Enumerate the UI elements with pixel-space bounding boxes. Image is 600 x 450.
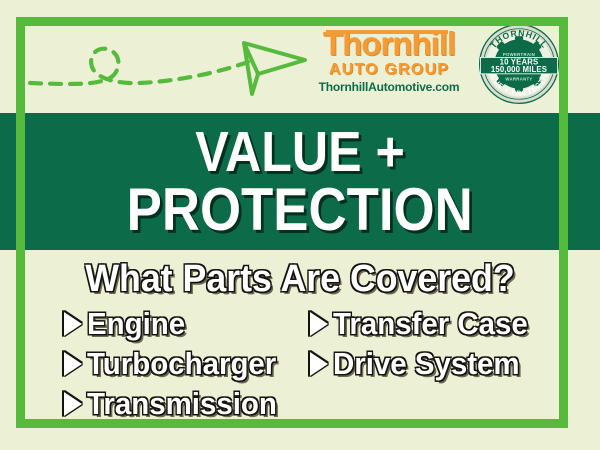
list-item-label: Drive System [333, 347, 520, 381]
headline-line-2: PROTECTION [127, 180, 473, 240]
triangle-bullet-icon [64, 352, 82, 376]
seal-miles-text: 150,000 MILES [491, 65, 547, 74]
triangle-bullet-icon [64, 392, 82, 416]
covered-parts-column-left: Engine Turbocharger Transmission [64, 305, 287, 425]
list-item: Transfer Case [310, 305, 538, 343]
covered-parts-column-right: Transfer Case Drive System [310, 305, 538, 385]
advertisement-banner: Thornhill AUTO GROUP ThornhillAutomotive… [0, 0, 600, 450]
list-item-label: Turbocharger [87, 347, 276, 381]
covered-parts-section: What Parts Are Covered? Engine Turbochar… [0, 250, 600, 450]
list-item: Drive System [310, 345, 538, 383]
dashed-loop-arrow-icon [20, 22, 310, 110]
title-band: VALUE + PROTECTION [0, 113, 600, 250]
list-item-label: Transfer Case [333, 307, 528, 341]
list-item: Transmission [64, 385, 287, 423]
warranty-seal-badge: THORNHILL VALUE + PROTECTION POWERTRAIN … [478, 23, 560, 105]
section-subtitle: What Parts Are Covered? [18, 257, 582, 301]
triangle-bullet-icon [310, 352, 328, 376]
covered-parts-columns: Engine Turbocharger Transmission Transfe… [0, 305, 600, 445]
logo-underline-bar [326, 30, 448, 34]
list-item: Engine [64, 305, 287, 343]
seal-powertrain-text: POWERTRAIN [503, 52, 535, 57]
logo-website-url: ThornhillAutomotive.com [313, 80, 465, 95]
thornhill-logo[interactable]: Thornhill AUTO GROUP ThornhillAutomotive… [313, 27, 465, 103]
seal-warranty-text: WARRANTY [505, 76, 532, 81]
header-section: Thornhill AUTO GROUP ThornhillAutomotive… [0, 0, 600, 113]
list-item: Turbocharger [64, 345, 287, 383]
list-item-label: Engine [87, 307, 185, 341]
logo-subtitle: AUTO GROUP [313, 61, 465, 78]
headline-line-1: VALUE + [195, 124, 405, 180]
triangle-bullet-icon [310, 312, 328, 336]
list-item-label: Transmission [87, 387, 277, 421]
triangle-bullet-icon [64, 312, 82, 336]
